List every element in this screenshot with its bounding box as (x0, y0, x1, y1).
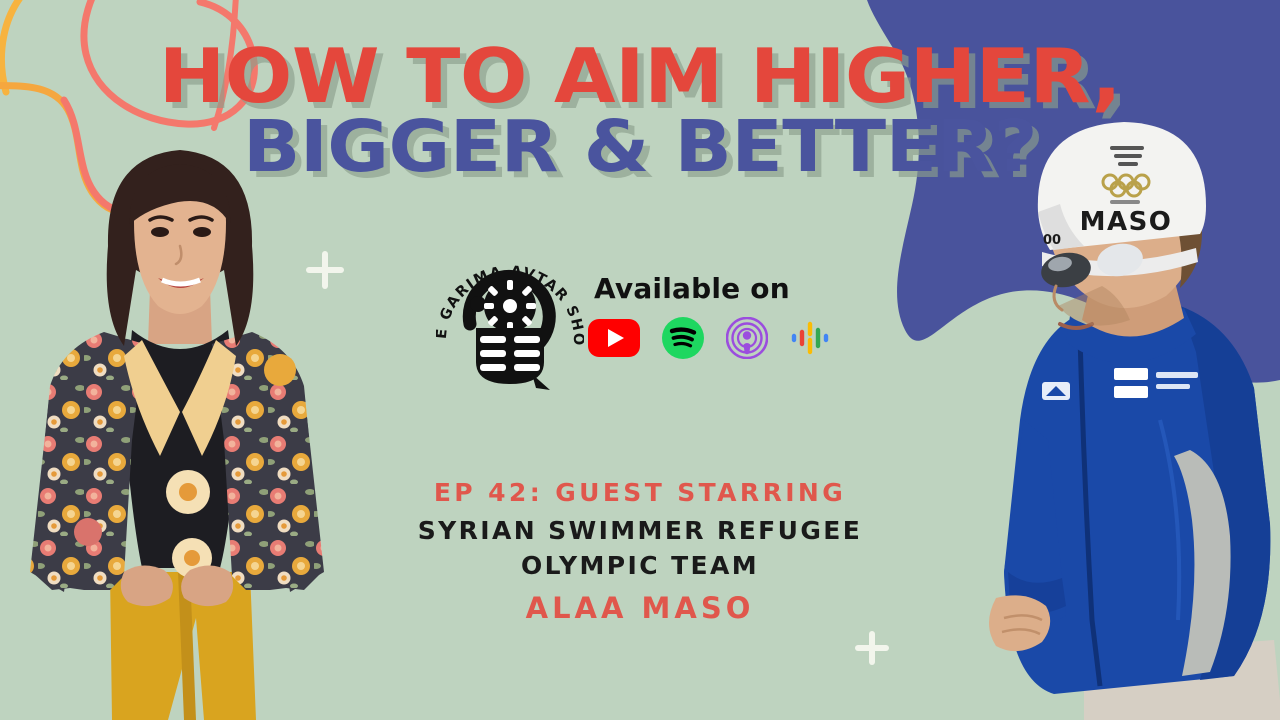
svg-text:00: 00 (1043, 233, 1061, 248)
title-line-1: HOW TO AIM HIGHER, (0, 42, 1280, 111)
available-on-label: Available on (588, 272, 834, 305)
host-photo (0, 120, 364, 720)
microphone-head-icon (484, 280, 536, 332)
host-eye-left (151, 227, 169, 237)
platform-icon-row (588, 317, 834, 364)
poster-title: HOW TO AIM HIGHER, BIGGER & BETTER? (0, 42, 1280, 179)
spotify-icon[interactable] (662, 317, 704, 364)
guest-cap-text: MASO (1080, 207, 1173, 237)
podcast-logo: THE GARIMA AVTAR SHOW (436, 232, 584, 397)
episode-description-line-2: OLYMPIC TEAM (0, 549, 1280, 584)
microphone-body-icon (476, 328, 550, 390)
logo-dot (470, 296, 486, 312)
episode-guest-name: ALAA MASO (0, 591, 1280, 625)
youtube-icon[interactable] (588, 319, 640, 362)
apple-podcasts-icon[interactable] (726, 317, 768, 364)
google-podcasts-icon[interactable] (790, 317, 834, 364)
plus-decoration-icon (852, 628, 892, 668)
guest-photo: MASO 00 (934, 120, 1280, 720)
episode-guest-starring: EP 42: GUEST STARRING (0, 478, 1280, 507)
episode-details: EP 42: GUEST STARRING SYRIAN SWIMMER REF… (0, 478, 1280, 625)
host-eye-right (193, 227, 211, 237)
title-line-2: BIGGER & BETTER? (0, 114, 1280, 179)
episode-description-line-1: SYRIAN SWIMMER REFUGEE (0, 514, 1280, 549)
guest-jacket-shoulder-logo (1042, 382, 1070, 400)
available-on-section: Available on (588, 272, 834, 364)
podcast-episode-poster: MASO 00 HOW TO AIM HIGHER, BIGGER & BETT… (0, 0, 1280, 720)
